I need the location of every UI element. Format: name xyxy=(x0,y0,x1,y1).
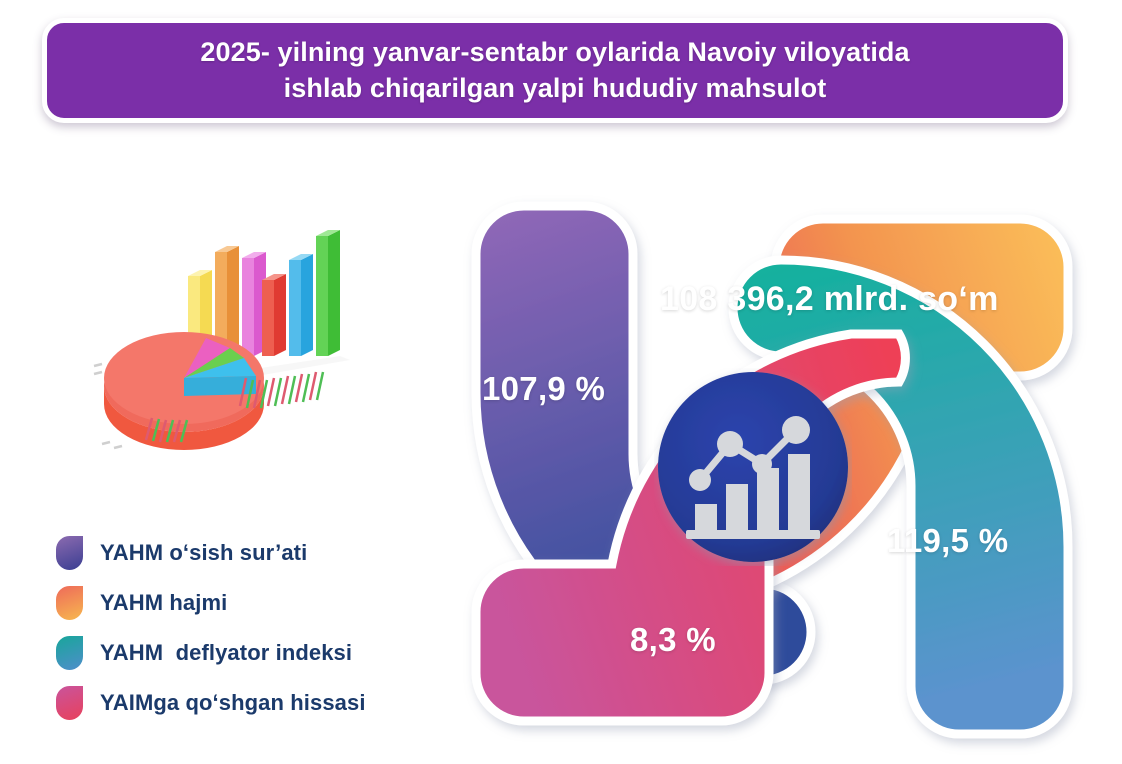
page-title: 2025- yilning yanvar-sentabr oylarida Na… xyxy=(200,35,909,106)
legend-swatch-volume xyxy=(56,586,83,620)
legend-item-growth[interactable]: YAHM o‘sish sur’ati xyxy=(56,528,476,578)
page-title-banner: 2025- yilning yanvar-sentabr oylarida Na… xyxy=(42,18,1068,123)
legend-item-volume[interactable]: YAHM hajmi xyxy=(56,578,476,628)
decorative-3d-chart-image xyxy=(88,208,360,466)
legend: YAHM o‘sish sur’ati YAHM hajmi YAHM defl… xyxy=(56,528,476,728)
legend-label-share: YAIMga qo‘shgan hissasi xyxy=(100,690,366,716)
legend-label-volume: YAHM hajmi xyxy=(100,590,227,616)
legend-label-growth: YAHM o‘sish sur’ati xyxy=(100,540,307,566)
legend-swatch-deflator xyxy=(56,636,83,670)
value-label-deflator: 119,5 % xyxy=(887,522,1008,560)
pinwheel-diagram: 107,9 % 108 396,2 mlrd. so‘m 119,5 % 8,3… xyxy=(462,192,1082,748)
legend-label-deflator: YAHM deflyator indeksi xyxy=(100,640,352,666)
value-label-growth: 107,9 % xyxy=(482,370,605,408)
center-medallion xyxy=(654,368,852,566)
value-label-share: 8,3 % xyxy=(630,621,716,659)
value-label-volume: 108 396,2 mlrd. so‘m xyxy=(660,280,999,319)
legend-item-deflator[interactable]: YAHM deflyator indeksi xyxy=(56,628,476,678)
legend-swatch-share xyxy=(56,686,83,720)
legend-swatch-growth xyxy=(56,536,83,570)
legend-item-share[interactable]: YAIMga qo‘shgan hissasi xyxy=(56,678,476,728)
